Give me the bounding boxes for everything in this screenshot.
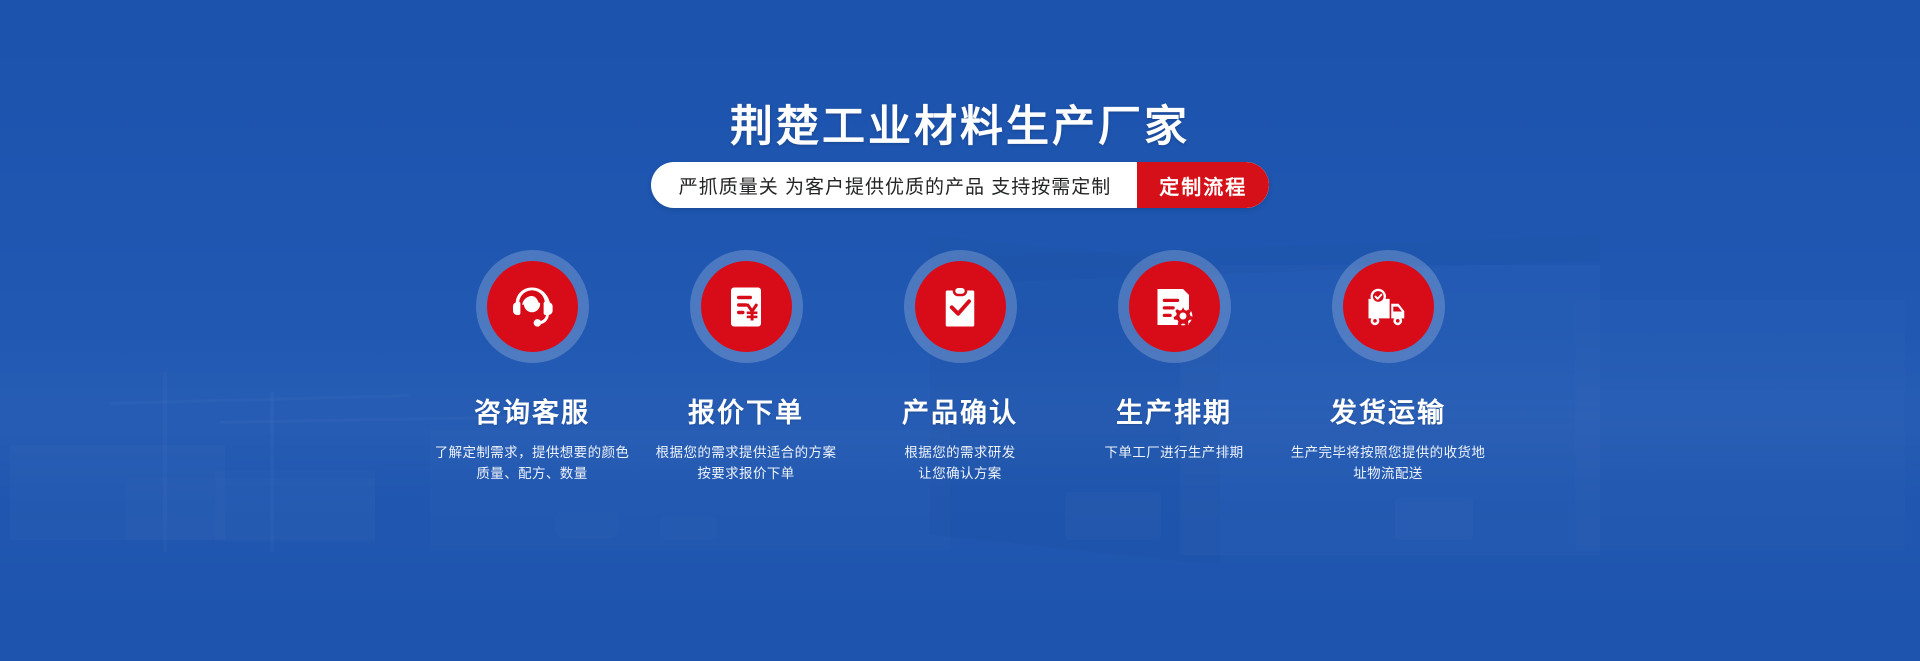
step-label: 咨询客服 bbox=[474, 391, 590, 430]
step-label: 产品确认 bbox=[902, 391, 1018, 430]
step-label: 发货运输 bbox=[1330, 391, 1446, 430]
delivery-truck-check-icon bbox=[1362, 281, 1414, 333]
step-description-line1: 根据您的需求提供适合的方案 bbox=[641, 442, 851, 463]
step-icon-ring bbox=[904, 250, 1017, 363]
step-description-line1: 了解定制需求，提供想要的颜色 bbox=[427, 442, 637, 463]
promo-bar-wrapper: 严抓质量关 为客户提供优质的产品 支持按需定制 定制流程 bbox=[0, 162, 1920, 208]
process-step-2[interactable]: 报价下单 根据您的需求提供适合的方案 按要求报价下单 bbox=[639, 250, 853, 484]
step-icon-disc bbox=[487, 261, 578, 352]
step-description-line1: 下单工厂进行生产排期 bbox=[1069, 442, 1279, 463]
step-description-line2: 按要求报价下单 bbox=[641, 463, 851, 484]
step-description: 下单工厂进行生产排期 bbox=[1069, 442, 1279, 463]
step-icon-disc bbox=[915, 261, 1006, 352]
step-icon-ring bbox=[1118, 250, 1231, 363]
step-icon-disc bbox=[1129, 261, 1220, 352]
promo-bar: 严抓质量关 为客户提供优质的产品 支持按需定制 定制流程 bbox=[651, 162, 1270, 208]
step-description-line1: 生产完毕将按照您提供的收货地 bbox=[1283, 442, 1493, 463]
step-description: 根据您的需求研发 让您确认方案 bbox=[855, 442, 1065, 484]
step-description: 了解定制需求，提供想要的颜色 质量、配方、数量 bbox=[427, 442, 637, 484]
step-description-line2: 质量、配方、数量 bbox=[427, 463, 637, 484]
step-description: 生产完毕将按照您提供的收货地 址物流配送 bbox=[1283, 442, 1493, 484]
step-label: 报价下单 bbox=[688, 391, 804, 430]
custom-process-button[interactable]: 定制流程 bbox=[1137, 162, 1269, 208]
step-icon-ring bbox=[476, 250, 589, 363]
document-gear-icon bbox=[1150, 283, 1198, 331]
process-step-3[interactable]: 产品确认 根据您的需求研发 让您确认方案 bbox=[853, 250, 1067, 484]
promo-banner: 荆楚工业材料生产厂家 严抓质量关 为客户提供优质的产品 支持按需定制 定制流程 bbox=[0, 0, 1920, 661]
headset-customer-service-icon bbox=[506, 281, 558, 333]
invoice-yuan-icon bbox=[722, 283, 770, 331]
step-description-line2: 让您确认方案 bbox=[855, 463, 1065, 484]
promo-bar-text: 严抓质量关 为客户提供优质的产品 支持按需定制 bbox=[651, 162, 1138, 208]
step-description: 根据您的需求提供适合的方案 按要求报价下单 bbox=[641, 442, 851, 484]
step-icon-ring bbox=[1332, 250, 1445, 363]
step-description-line2: 址物流配送 bbox=[1283, 463, 1493, 484]
step-icon-disc bbox=[1343, 261, 1434, 352]
step-icon-disc bbox=[701, 261, 792, 352]
page-title: 荆楚工业材料生产厂家 bbox=[0, 92, 1920, 154]
step-label: 生产排期 bbox=[1116, 391, 1232, 430]
step-icon-ring bbox=[690, 250, 803, 363]
clipboard-check-icon bbox=[936, 283, 984, 331]
process-step-1[interactable]: 咨询客服 了解定制需求，提供想要的颜色 质量、配方、数量 bbox=[425, 250, 639, 484]
banner-content: 荆楚工业材料生产厂家 严抓质量关 为客户提供优质的产品 支持按需定制 定制流程 bbox=[0, 0, 1920, 661]
step-description-line1: 根据您的需求研发 bbox=[855, 442, 1065, 463]
process-step-4[interactable]: 生产排期 下单工厂进行生产排期 bbox=[1067, 250, 1281, 463]
process-steps: 咨询客服 了解定制需求，提供想要的颜色 质量、配方、数量 bbox=[0, 250, 1920, 484]
process-step-5[interactable]: 发货运输 生产完毕将按照您提供的收货地 址物流配送 bbox=[1281, 250, 1495, 484]
